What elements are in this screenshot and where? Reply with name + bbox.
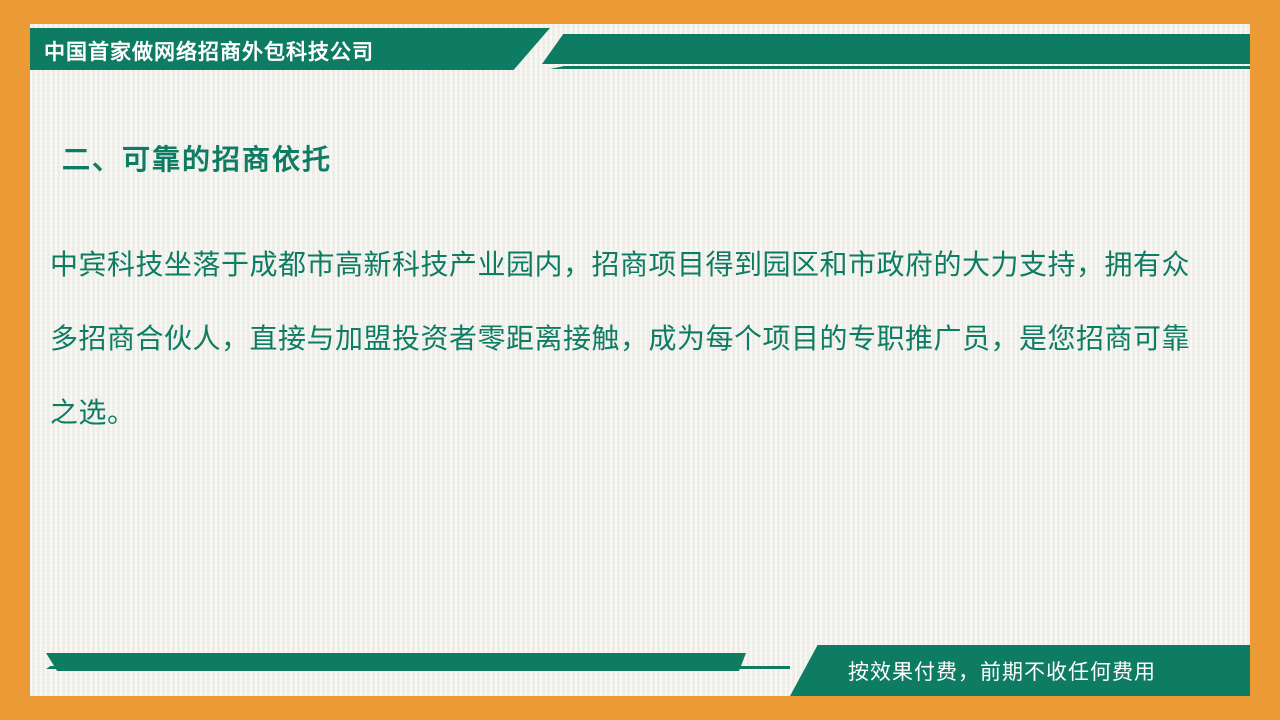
body-paragraph: 中宾科技坐落于成都市高新科技产业园内，招商项目得到园区和市政府的大力支持，拥有众… [50, 228, 1190, 450]
slide: 中国首家做网络招商外包科技公司 二、可靠的招商依托 中宾科技坐落于成都市高新科技… [0, 0, 1280, 720]
footer-accent-line [46, 666, 790, 669]
section-title: 二、可靠的招商依托 [62, 138, 332, 178]
header: 中国首家做网络招商外包科技公司 [30, 28, 1250, 70]
header-title: 中国首家做网络招商外包科技公司 [44, 36, 374, 66]
footer-text: 按效果付费，前期不收任何费用 [848, 656, 1156, 686]
header-accent-line [550, 66, 1250, 69]
header-banner-right [542, 34, 1250, 64]
